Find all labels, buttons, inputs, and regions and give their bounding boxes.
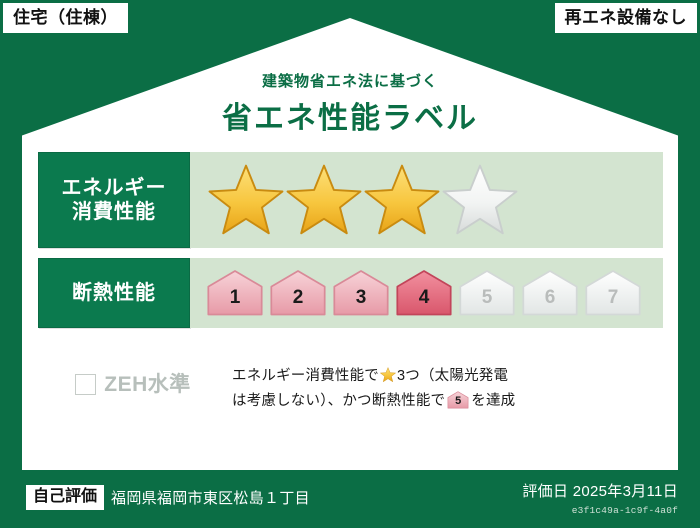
self-evaluation-badge: 自己評価 bbox=[26, 485, 104, 510]
energy-label-line2: 消費性能 bbox=[72, 200, 156, 224]
insulation-label-text: 断熱性能 bbox=[72, 281, 156, 305]
document-id: e3f1c49a-1c9f-4a0f bbox=[522, 505, 678, 516]
insulation-level-4: 4 bbox=[395, 269, 453, 317]
star-icon-filled bbox=[364, 163, 440, 237]
zeh-badge: ZEH水準 bbox=[38, 365, 228, 395]
insulation-level-7: 7 bbox=[584, 269, 642, 317]
insulation-level-number: 7 bbox=[584, 288, 642, 307]
zeh-section: ZEH水準 エネルギー消費性能で3つ（太陽光発電 は考慮しない）、かつ断熱性能で… bbox=[38, 365, 663, 413]
insulation-performance-label: 断熱性能 bbox=[38, 258, 190, 328]
label-title: 省エネ性能ラベル bbox=[0, 93, 700, 137]
insulation-level-2: 2 bbox=[269, 269, 327, 317]
insulation-level-number: 1 bbox=[206, 288, 264, 307]
star-icon-filled bbox=[286, 163, 362, 237]
renewable-energy-tag: 再エネ設備なし bbox=[555, 3, 698, 33]
zeh-description: エネルギー消費性能で3つ（太陽光発電 は考慮しない）、かつ断熱性能で5を達成 bbox=[228, 365, 663, 413]
insulation-level-3: 3 bbox=[332, 269, 390, 317]
insulation-level-1: 1 bbox=[206, 269, 264, 317]
house-icon-inline: 5 bbox=[447, 391, 469, 409]
insulation-level-5: 5 bbox=[458, 269, 516, 317]
label-subtitle: 建築物省エネ法に基づく bbox=[0, 70, 700, 91]
insulation-performance-value: 1234567 bbox=[190, 258, 663, 328]
insulation-level-6: 6 bbox=[521, 269, 579, 317]
star-rating bbox=[190, 163, 518, 237]
star-icon-inline bbox=[380, 371, 396, 387]
energy-performance-row: エネルギー 消費性能 bbox=[38, 152, 663, 248]
insulation-level-number: 3 bbox=[332, 288, 390, 307]
footer-right: 評価日 2025年3月11日 e3f1c49a-1c9f-4a0f bbox=[522, 480, 678, 516]
insulation-performance-row: 断熱性能 1234567 bbox=[38, 258, 663, 328]
insulation-level-number: 6 bbox=[521, 288, 579, 307]
zeh-desc-part2: 3つ（太陽光発電 bbox=[397, 368, 508, 384]
insulation-level-number: 5 bbox=[458, 288, 516, 307]
star-icon-empty bbox=[442, 163, 518, 237]
building-type-tag: 住宅（住棟） bbox=[3, 3, 128, 33]
house-icon-inline-number: 5 bbox=[447, 396, 469, 407]
energy-performance-value bbox=[190, 152, 663, 248]
zeh-desc-part4: を達成 bbox=[471, 393, 515, 409]
property-address: 福岡県福岡市東区松島１丁目 bbox=[111, 487, 310, 508]
insulation-level-scale: 1234567 bbox=[190, 269, 642, 317]
energy-label-line1: エネルギー bbox=[62, 176, 167, 200]
footer-left: 自己評価 福岡県福岡市東区松島１丁目 bbox=[26, 485, 310, 510]
insulation-level-number: 4 bbox=[395, 288, 453, 307]
energy-performance-label: エネルギー 消費性能 bbox=[38, 152, 190, 248]
zeh-desc-part3: は考慮しない）、かつ断熱性能で bbox=[232, 393, 445, 409]
zeh-desc-part1: エネルギー消費性能で bbox=[232, 368, 379, 384]
checkbox-icon bbox=[75, 374, 96, 395]
insulation-level-number: 2 bbox=[269, 288, 327, 307]
star-icon-filled bbox=[208, 163, 284, 237]
zeh-badge-label: ZEH水準 bbox=[104, 374, 191, 395]
energy-performance-label: 住宅（住棟） 再エネ設備なし 建築物省エネ法に基づく 省エネ性能ラベル エネルギ… bbox=[0, 0, 700, 528]
evaluation-date: 評価日 2025年3月11日 bbox=[522, 480, 678, 501]
